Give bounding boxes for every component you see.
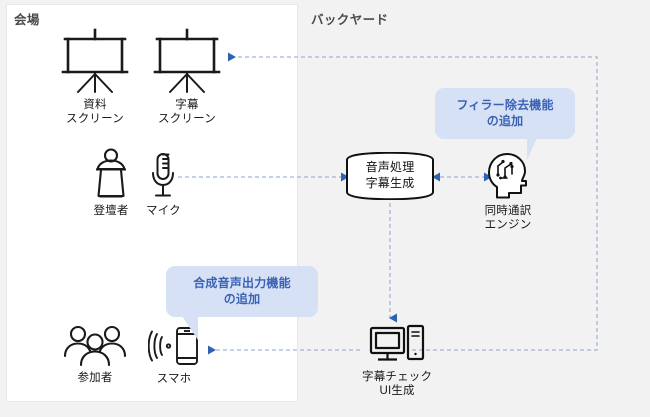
callout-filler-removal: フィラー除去機能 の追加 — [435, 88, 575, 139]
node-speaker-label: 登壇者 — [93, 204, 128, 218]
people-group-icon — [62, 325, 128, 367]
callout-tts-output: 合成音声出力機能 の追加 — [166, 266, 318, 317]
callout-tts-output-text: 合成音声出力機能 の追加 — [166, 266, 318, 317]
node-subtitle-check-ui-label: 字幕チェック UI生成 — [362, 370, 432, 399]
callout-filler-removal-text: フィラー除去機能 の追加 — [435, 88, 575, 139]
callout-tail-icon — [527, 138, 537, 160]
panel-backyard-title: バックヤード — [311, 9, 388, 28]
node-document-screen: 資料 スクリーン — [58, 28, 132, 127]
node-interpretation-engine: 同時通訳 エンジン — [483, 152, 533, 233]
node-audio-processing-label: 音声処理 字幕生成 — [344, 152, 436, 200]
node-smartphone-label: スマホ — [157, 372, 192, 386]
node-audio-processing: 音声処理 字幕生成 — [344, 152, 436, 200]
node-subtitle-screen: 字幕 スクリーン — [150, 28, 224, 127]
callout-tail-icon — [182, 316, 198, 340]
diagram-canvas: 会場 バックヤード — [0, 0, 650, 417]
node-subtitle-screen-label: 字幕 スクリーン — [158, 98, 216, 127]
panel-backyard — [303, 4, 647, 402]
node-microphone-label: マイク — [146, 204, 181, 218]
node-speaker: 登壇者 — [88, 148, 134, 218]
desktop-computer-icon — [369, 324, 425, 366]
node-subtitle-check-ui: 字幕チェック UI生成 — [362, 324, 432, 399]
node-audience: 参加者 — [62, 325, 128, 385]
projection-screen-icon — [58, 28, 132, 94]
ai-head-icon — [483, 152, 533, 200]
projection-screen-icon — [150, 28, 224, 94]
microphone-icon — [149, 152, 177, 200]
node-interpretation-engine-label: 同時通訳 エンジン — [485, 204, 532, 233]
node-audience-label: 参加者 — [77, 371, 112, 385]
node-document-screen-label: 資料 スクリーン — [66, 98, 124, 127]
podium-speaker-icon — [88, 148, 134, 200]
node-microphone: マイク — [146, 152, 181, 218]
panel-venue-title: 会場 — [14, 9, 40, 28]
